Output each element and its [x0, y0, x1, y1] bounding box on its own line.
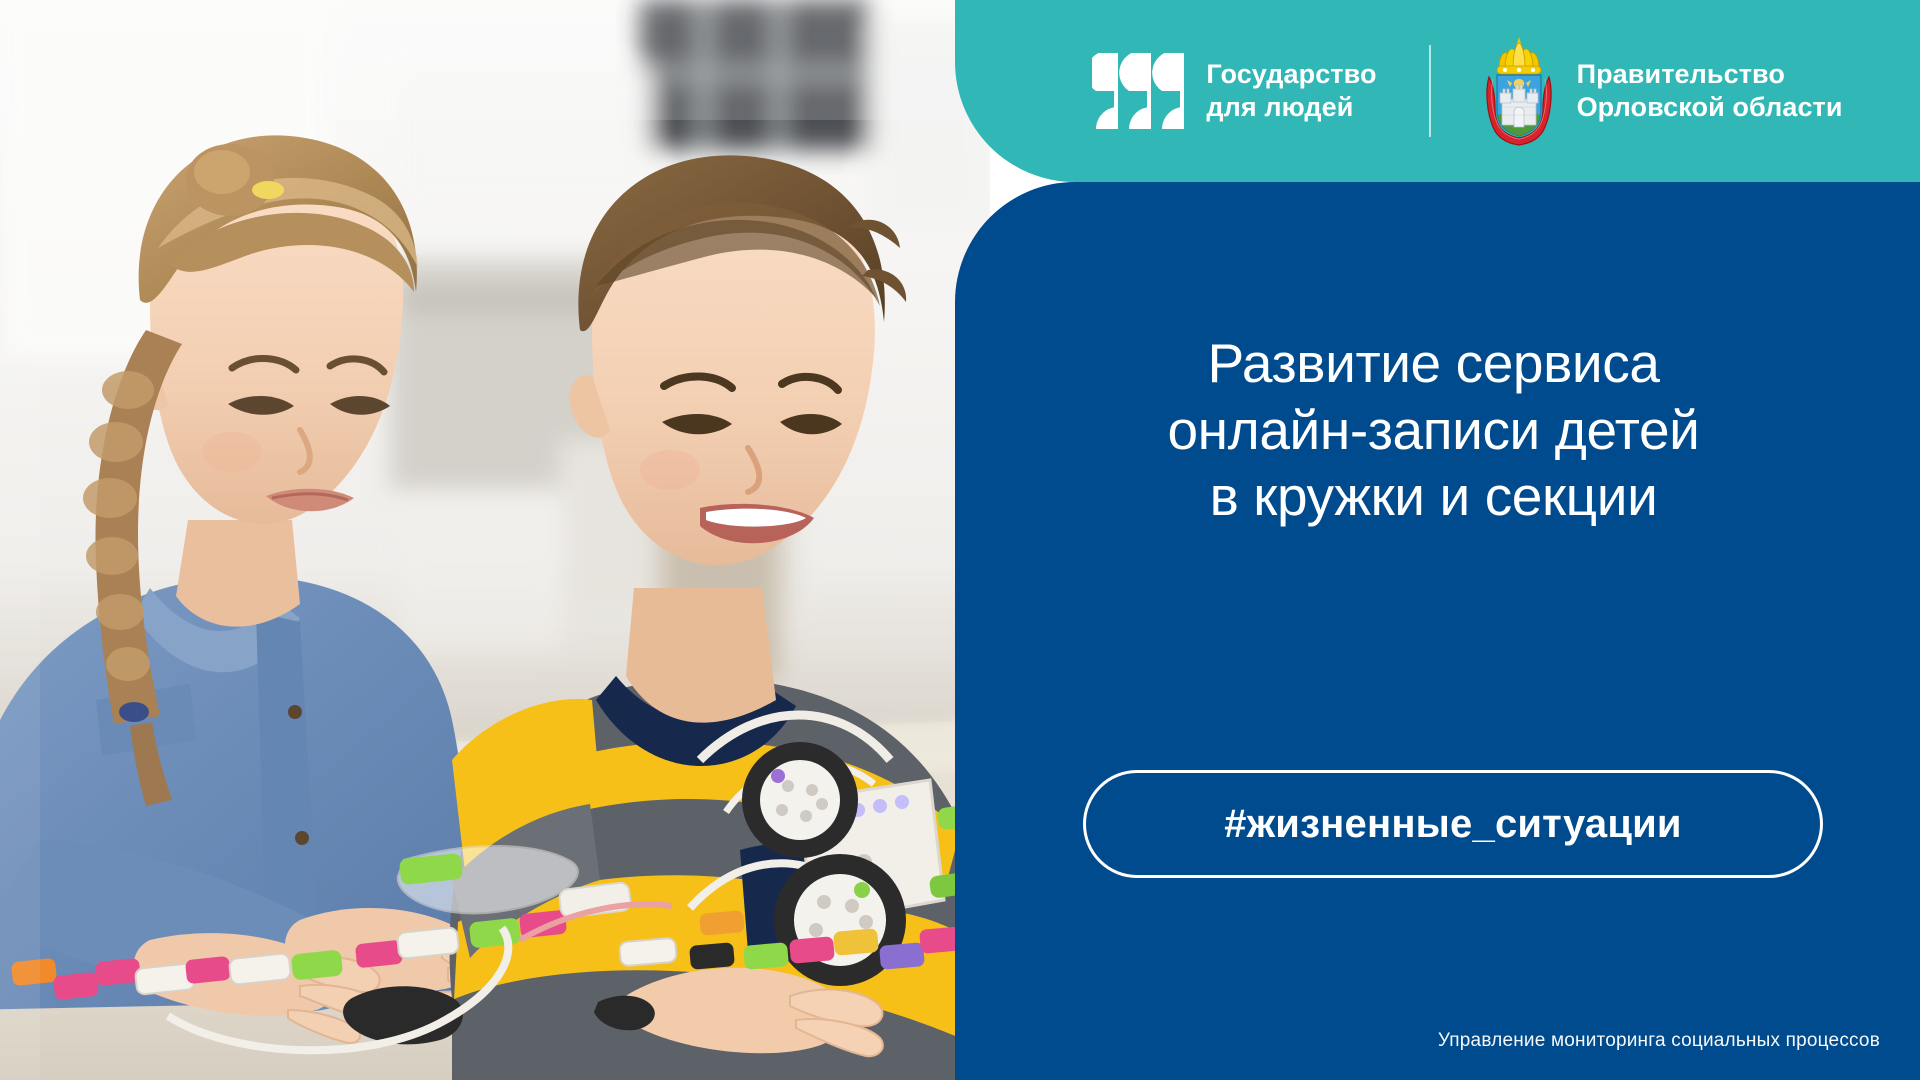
oryol-oblast-coat-of-arms-icon — [1483, 35, 1555, 147]
brand-header-panel: Государство для людей — [955, 0, 1920, 182]
gosudarstvo-dlya-lyudey-mark-icon — [1092, 53, 1184, 129]
poster-canvas: Государство для людей — [0, 0, 1920, 1080]
gosudarstvo-dlya-lyudey-label: Государство для людей — [1206, 58, 1376, 124]
oryol-government-label: Правительство Орловской области — [1577, 58, 1843, 124]
oryol-government-block: Правительство Орловской области — [1483, 35, 1843, 147]
hashtag-button-label: #жизненные_ситуации — [1224, 802, 1681, 847]
page-title: Развитие сервиса онлайн-записи детей в к… — [955, 330, 1872, 530]
hashtag-button[interactable]: #жизненные_ситуации — [1083, 770, 1823, 878]
department-credit: Управление мониторинга социальных процес… — [1438, 1030, 1880, 1052]
robot-wheel-back — [742, 742, 858, 858]
content-panel: Развитие сервиса онлайн-записи детей в к… — [955, 182, 1920, 1080]
children-robotics-photo — [0, 0, 990, 1080]
gosuslugi-brand-block: Государство для людей — [1092, 53, 1376, 129]
hero-photo — [0, 0, 990, 1080]
header-divider — [1429, 45, 1431, 137]
